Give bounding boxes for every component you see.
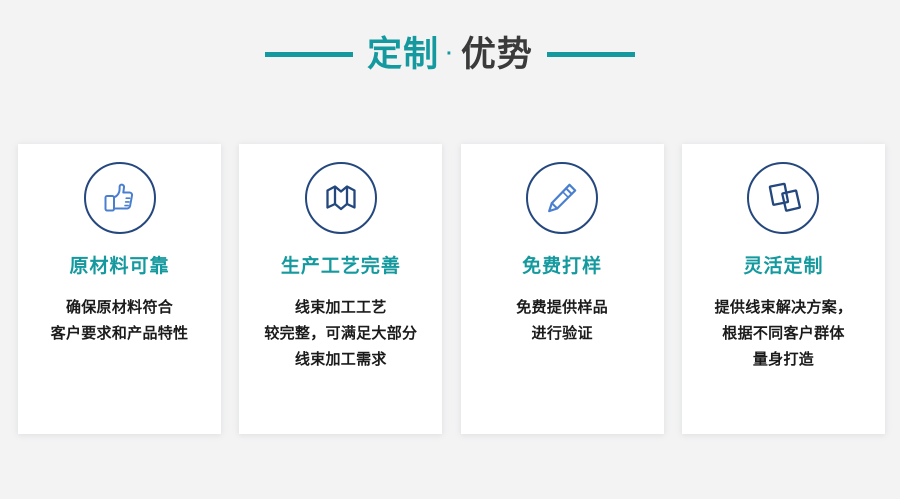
page-title: 定制 · 优势 [367, 37, 533, 72]
icon-circle [526, 162, 598, 234]
card-body-line: 线束加工需求 [264, 347, 417, 373]
advantage-card[interactable]: 免费打样 免费提供样品 进行验证 [461, 144, 664, 434]
card-body-line: 量身打造 [715, 347, 853, 373]
stacked-cards-icon [765, 180, 801, 216]
card-body-line: 进行验证 [516, 321, 608, 347]
advantage-card[interactable]: 原材料可靠 确保原材料符合 客户要求和产品特性 [18, 144, 221, 434]
card-body-line: 免费提供样品 [516, 295, 608, 321]
advantage-card-list: 原材料可靠 确保原材料符合 客户要求和产品特性 生产工艺完善 线束加工工艺 较完… [18, 144, 885, 434]
icon-circle [84, 162, 156, 234]
page-title-primary: 定制 [367, 37, 439, 72]
card-title: 原材料可靠 [69, 256, 169, 279]
card-body: 线束加工工艺 较完整，可满足大部分 线束加工需求 [258, 295, 423, 374]
heading-rule-left [265, 52, 353, 57]
card-body-line: 提供线束解决方案， [715, 295, 853, 321]
card-body-line: 根据不同客户群体 [715, 321, 853, 347]
page-title-secondary: 优势 [461, 37, 533, 72]
card-title: 免费打样 [522, 256, 602, 279]
advantage-card[interactable]: 生产工艺完善 线束加工工艺 较完整，可满足大部分 线束加工需求 [239, 144, 442, 434]
card-body-line: 较完整，可满足大部分 [264, 321, 417, 347]
folded-map-icon [323, 180, 359, 216]
card-body-line: 客户要求和产品特性 [51, 321, 189, 347]
icon-circle [305, 162, 377, 234]
page-title-separator: · [439, 44, 461, 64]
pencil-icon [544, 180, 580, 216]
card-body: 确保原材料符合 客户要求和产品特性 [45, 295, 195, 348]
card-body: 提供线束解决方案， 根据不同客户群体 量身打造 [709, 295, 859, 374]
thumbs-up-icon [102, 180, 138, 216]
card-title: 灵活定制 [743, 256, 823, 279]
card-body-line: 线束加工工艺 [264, 295, 417, 321]
card-body: 免费提供样品 进行验证 [510, 295, 614, 348]
icon-circle [747, 162, 819, 234]
advantage-card[interactable]: 灵活定制 提供线束解决方案， 根据不同客户群体 量身打造 [682, 144, 885, 434]
section-heading: 定制 · 优势 [0, 26, 900, 82]
card-body-line: 确保原材料符合 [51, 295, 189, 321]
heading-rule-right [547, 52, 635, 57]
card-title: 生产工艺完善 [281, 256, 401, 279]
